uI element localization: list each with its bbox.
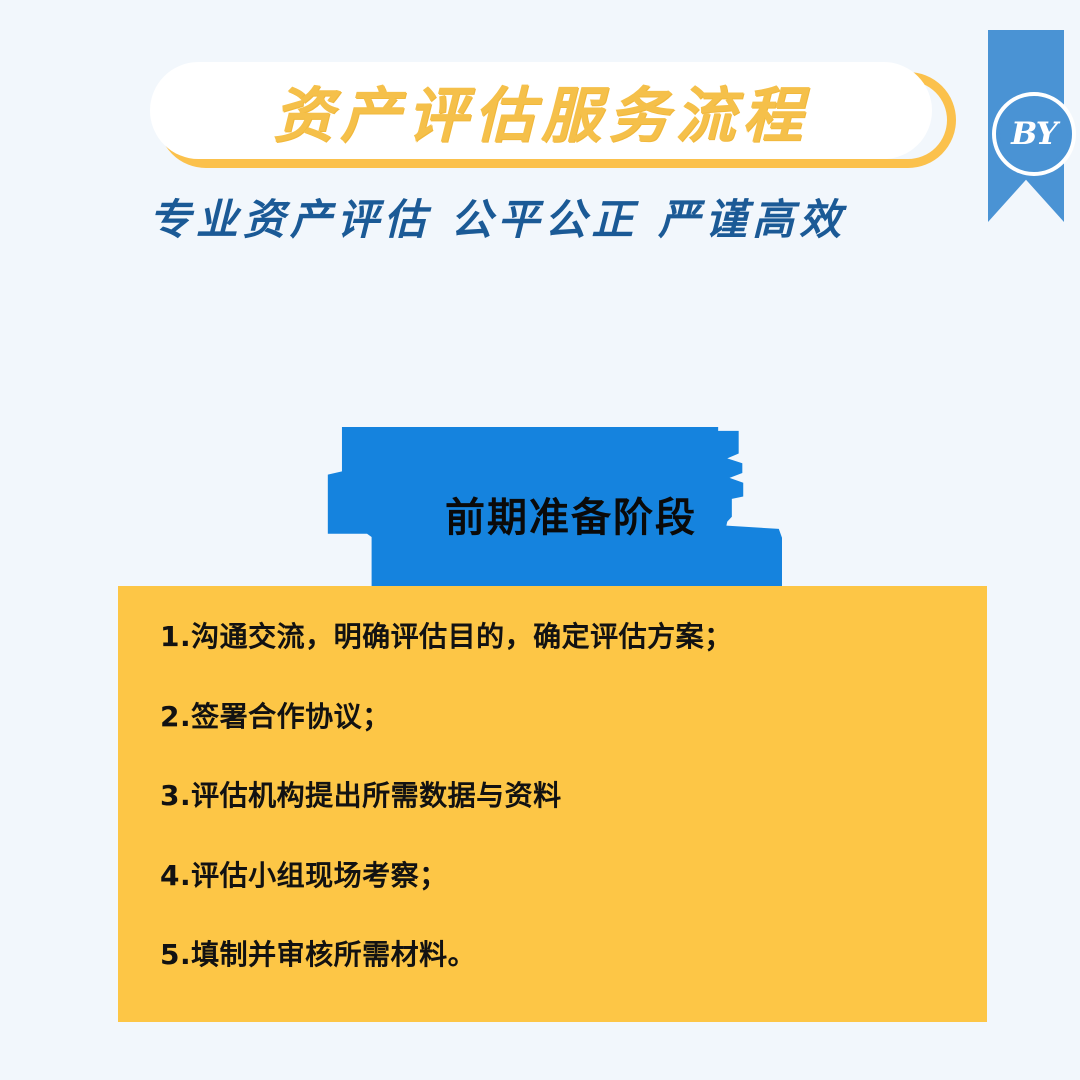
list-item: 4.评估小组现场考察； [160,859,945,893]
stage-section: 前期准备阶段 1.沟通交流，明确评估目的，确定评估方案； 2.签署合作协议； 3… [0,0,1080,1080]
stage-title: 前期准备阶段 [326,426,782,588]
list-item: 2.签署合作协议； [160,700,945,734]
list-item: 3.评估机构提出所需数据与资料 [160,779,945,813]
stage-content-card: 1.沟通交流，明确评估目的，确定评估方案； 2.签署合作协议； 3.评估机构提出… [118,586,987,1022]
list-item: 5.填制并审核所需材料。 [160,938,945,972]
list-item: 1.沟通交流，明确评估目的，确定评估方案； [160,620,945,654]
poster-canvas: 资产评估服务流程 专业资产评估 公平公正 严谨高效 BY 前期准备阶段 1.沟通… [0,0,1080,1080]
